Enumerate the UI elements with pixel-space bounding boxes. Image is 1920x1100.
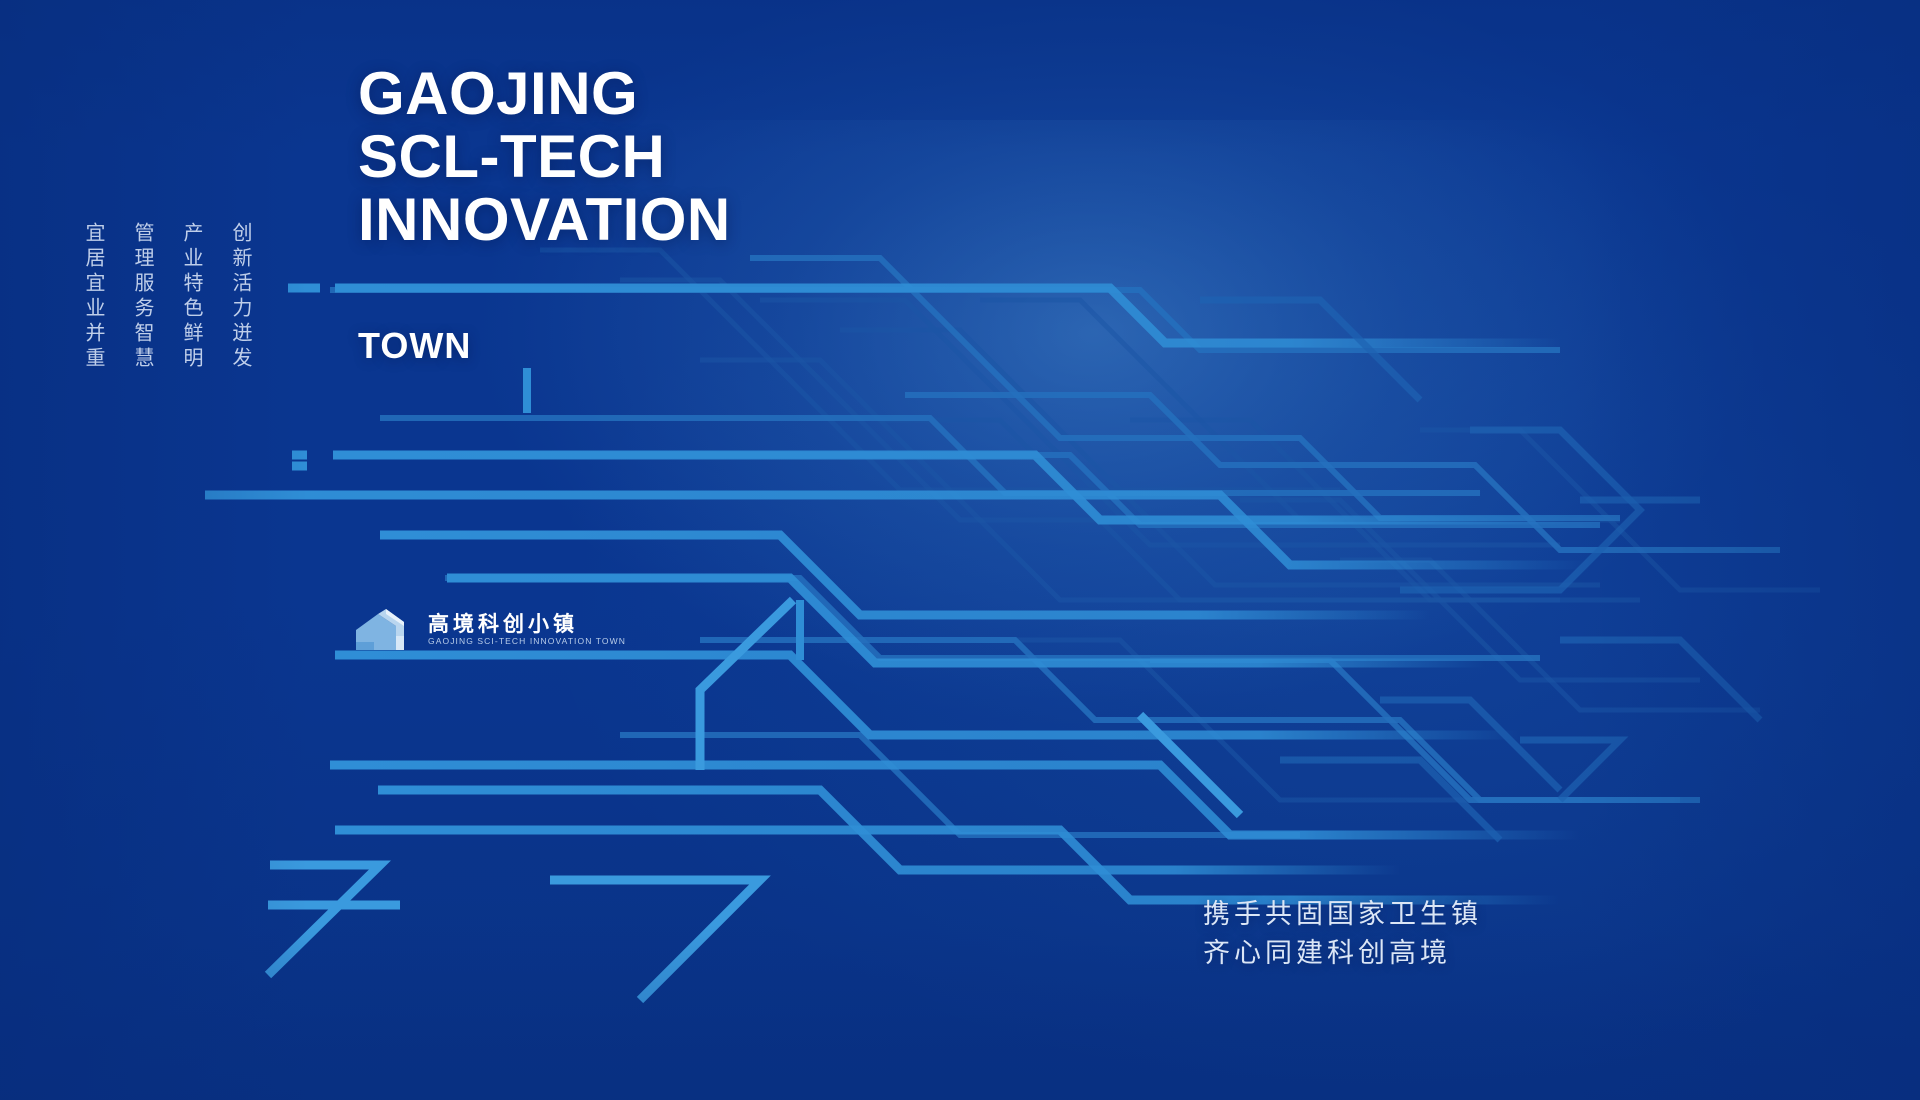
logo-name-en: GAOJING SCI-TECH INNOVATION TOWN <box>428 637 626 646</box>
vertical-slogan-column-1: 创新活力迸发 <box>227 222 256 372</box>
house-building-icon <box>352 606 418 654</box>
headline-subtitle: TOWN <box>358 325 471 367</box>
headline-line-2: SCL-TECH <box>358 125 731 188</box>
vertical-slogan-column-4: 宜居宜业并重 <box>80 222 109 372</box>
bottom-slogan: 携手共固国家卫生镇 齐心同建科创高境 <box>1203 895 1482 973</box>
vertical-slogan-column-3: 管理服务智慧 <box>129 222 158 372</box>
bottom-slogan-line-1: 携手共固国家卫生镇 <box>1203 895 1482 934</box>
logo-name-cn: 高境科创小镇 <box>428 614 626 635</box>
page-title: GAOJING SCL-TECH INNOVATION <box>358 62 731 251</box>
bottom-slogan-line-2: 齐心同建科创高境 <box>1203 934 1482 973</box>
poster-canvas: GAOJING SCL-TECH INNOVATION TOWN 创新活力迸发 … <box>0 0 1920 1100</box>
headline-line-1: GAOJING <box>358 62 731 125</box>
vertical-slogan-column-2: 产业特色鲜明 <box>178 222 207 372</box>
vertical-slogan-block: 创新活力迸发 产业特色鲜明 管理服务智慧 宜居宜业并重 <box>80 222 256 372</box>
brand-logo: 高境科创小镇 GAOJING SCI-TECH INNOVATION TOWN <box>352 606 626 654</box>
headline-line-3: INNOVATION <box>358 188 731 251</box>
circuit-line-artwork <box>0 0 1920 1100</box>
